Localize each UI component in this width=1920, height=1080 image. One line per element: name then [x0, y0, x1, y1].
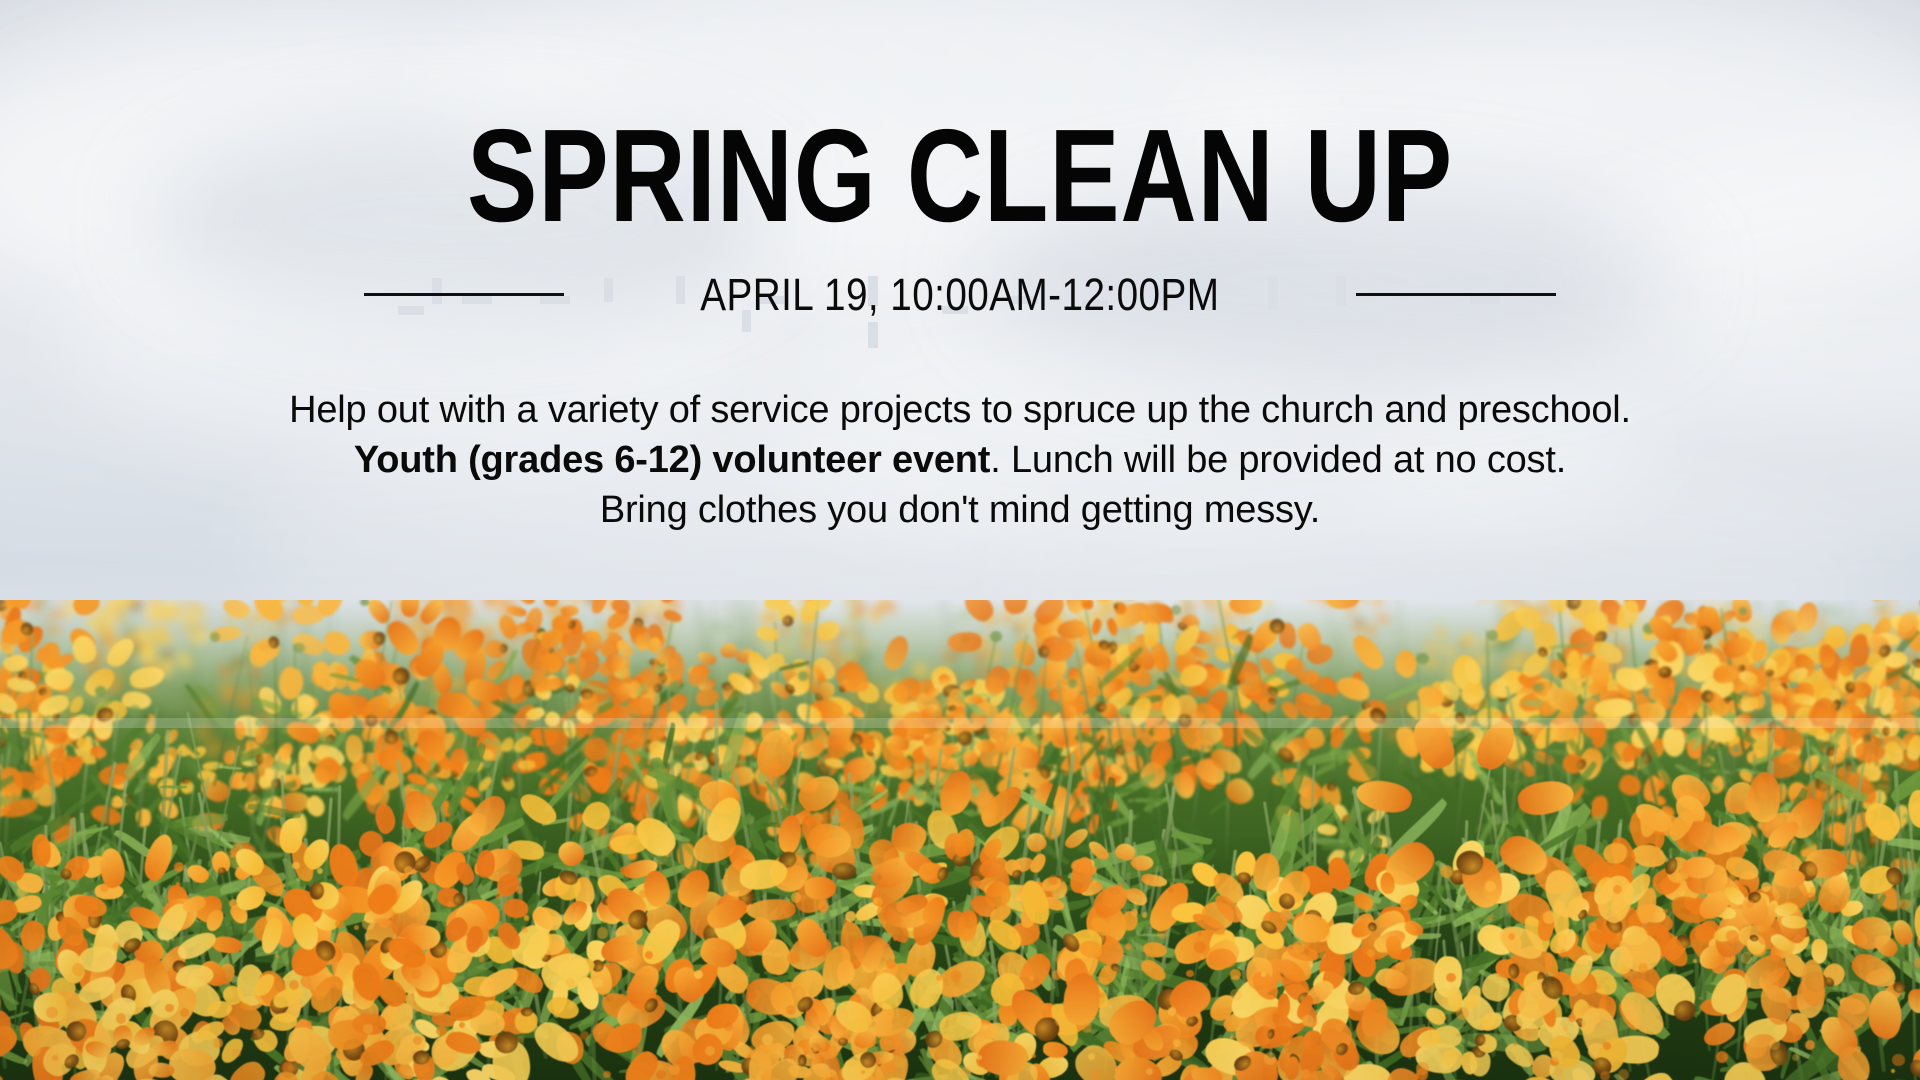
- poster-canvas: SPRING CLEAN UP APRIL 19, 10:00AM-12:00P…: [0, 0, 1920, 1080]
